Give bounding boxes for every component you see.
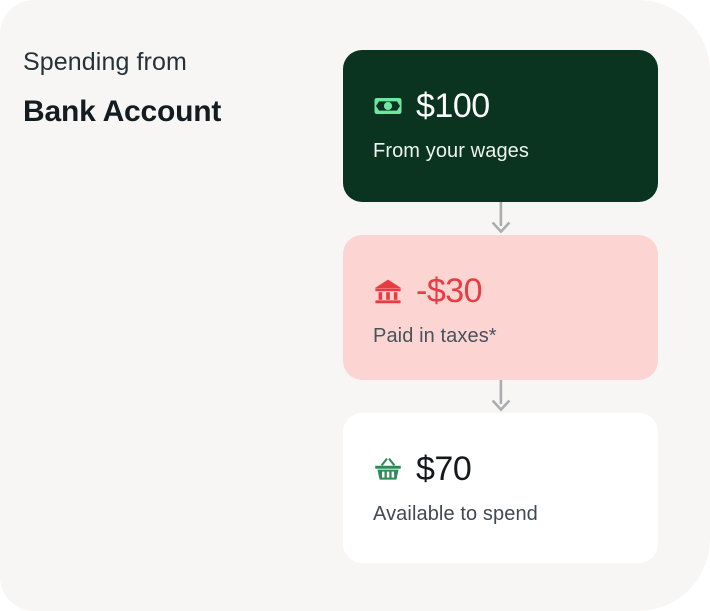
shopping-basket-icon	[373, 454, 403, 484]
banknote-icon	[373, 91, 403, 121]
card-income-amount: $100	[416, 89, 490, 123]
spending-flow-panel: Spending from Bank Account $100 From you…	[0, 0, 710, 611]
card-available-caption: Available to spend	[373, 501, 658, 527]
flow-column: $100 From your wages	[343, 50, 658, 563]
arrow-down-icon	[490, 380, 512, 413]
card-income-amount-row: $100	[373, 87, 658, 125]
heading-block: Spending from Bank Account	[23, 45, 323, 131]
card-taxes-amount: -$30	[416, 274, 482, 308]
card-taxes-amount-row: -$30	[373, 272, 658, 310]
card-taxes: -$30 Paid in taxes*	[343, 235, 658, 380]
card-available-amount: $70	[416, 452, 471, 486]
arrow-down-icon	[490, 202, 512, 235]
card-income-caption: From your wages	[373, 138, 658, 164]
heading-eyebrow: Spending from	[23, 45, 323, 79]
card-taxes-caption: Paid in taxes*	[373, 323, 658, 349]
connector-taxes-to-available	[343, 380, 658, 413]
bank-building-icon	[373, 276, 403, 306]
page-title: Bank Account	[23, 93, 323, 131]
card-available: $70 Available to spend	[343, 413, 658, 563]
card-available-amount-row: $70	[373, 450, 658, 488]
card-income: $100 From your wages	[343, 50, 658, 202]
connector-income-to-taxes	[343, 202, 658, 235]
